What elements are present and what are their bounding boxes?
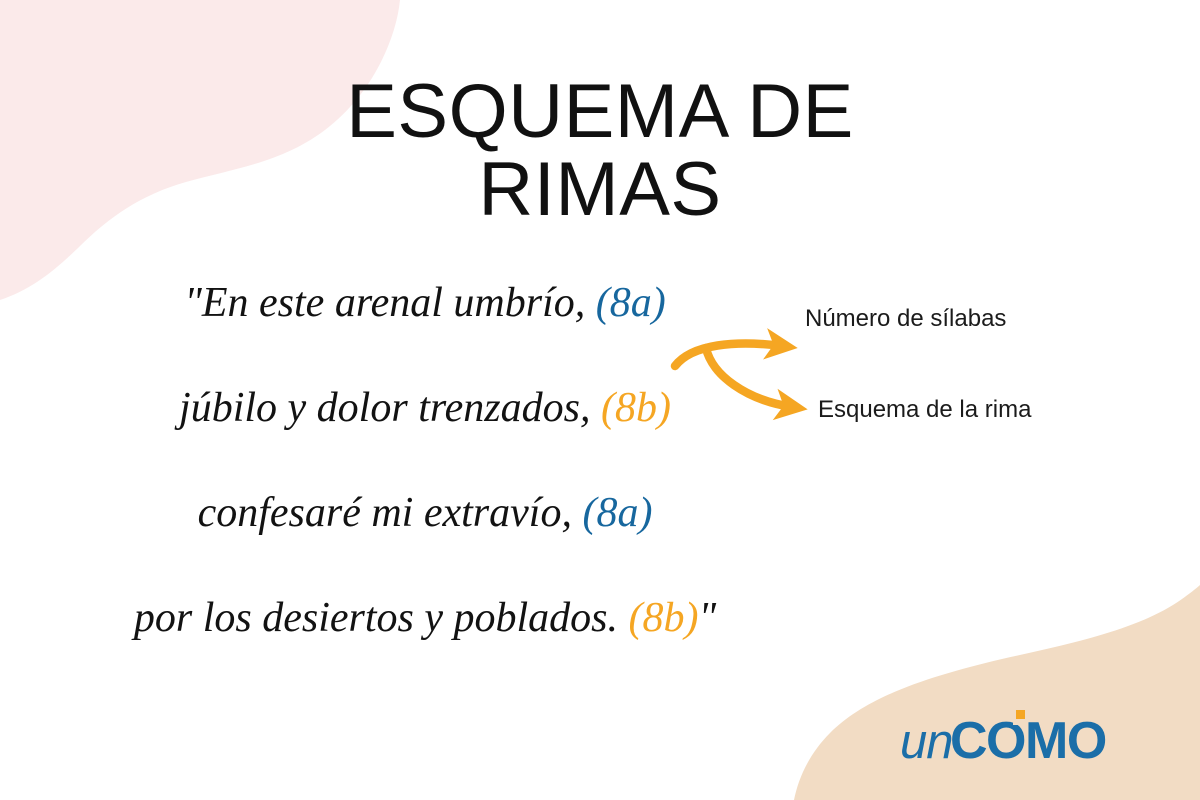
rhyme-tag-4: (8b) (629, 595, 699, 641)
verse-trailing-4: " (699, 595, 717, 641)
callout-esquema-de-la-rima: Esquema de la rima (818, 396, 1031, 424)
verse-text-1: "En este arenal umbrío, (184, 280, 596, 326)
callout-numero-de-silabas: Número de sílabas (805, 305, 1006, 333)
logo-prefix-text: un (900, 715, 953, 769)
verse-line-3: confesaré mi extravío, (8a) (30, 492, 820, 534)
verse-text-2: júbilo y dolor trenzados, (179, 385, 601, 431)
rhyme-tag-1: (8a) (596, 280, 666, 326)
slide-canvas: ESQUEMA DE RIMAS "En este arenal umbrío,… (0, 0, 1200, 800)
uncomo-logo: un COMO (900, 708, 1170, 770)
logo-accent-square (1016, 710, 1025, 719)
poem-block: "En este arenal umbrío, (8a) júbilo y do… (30, 282, 820, 639)
page-title: ESQUEMA DE RIMAS (0, 73, 1200, 230)
verse-text-4: por los desiertos y poblados. (134, 595, 629, 641)
verse-line-2: júbilo y dolor trenzados, (8b) (30, 387, 820, 429)
verse-line-1: "En este arenal umbrío, (8a) (30, 282, 820, 324)
rhyme-tag-2: (8b) (601, 385, 671, 431)
logo-accent-gap (1013, 719, 1028, 725)
verse-line-4: por los desiertos y poblados. (8b)" (30, 597, 820, 639)
verse-text-3: confesaré mi extravío, (198, 490, 583, 536)
rhyme-tag-3: (8a) (582, 490, 652, 536)
